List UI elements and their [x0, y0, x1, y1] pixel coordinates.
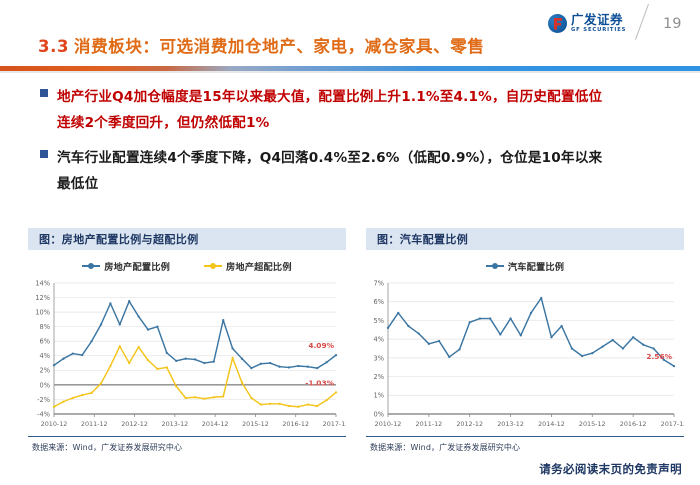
- bullet-line: 地产行业Q4加仓幅度是15年以来最大值，配置比例上升1.1%至4.1%，自历史配…: [57, 84, 670, 110]
- chart-source: 数据来源：Wind，广发证券发展研究中心: [32, 442, 182, 453]
- brand-name-en: GF SECURITIES: [571, 28, 626, 33]
- page-number: 19: [663, 16, 681, 32]
- chart-plot-area: 7%6%5%4%3%2%1%0%2010-122011-122012-12201…: [366, 277, 684, 432]
- svg-text:0%: 0%: [374, 410, 384, 418]
- legend-line-icon: [204, 265, 222, 267]
- svg-text:-1.03%: -1.03%: [305, 378, 334, 387]
- svg-text:2010-12: 2010-12: [41, 420, 68, 428]
- brand-logo-text: 广发证券 GF SECURITIES: [571, 14, 626, 33]
- chart-legend: 汽车配置比例: [366, 259, 684, 273]
- svg-text:2013-12: 2013-12: [162, 420, 189, 428]
- legend-label: 房地产配置比例: [104, 259, 170, 273]
- page-title: 3.3消费板块：可选消费加仓地产、家电，减仓家具、零售: [38, 33, 484, 57]
- header-divider-slash: [635, 4, 649, 40]
- legend-label: 房地产超配比例: [226, 259, 292, 273]
- legend-item-overweight: 房地产超配比例: [204, 259, 292, 273]
- bullet-list: 地产行业Q4加仓幅度是15年以来最大值，配置比例上升1.1%至4.1%，自历史配…: [40, 84, 670, 206]
- svg-text:2017-12: 2017-12: [323, 420, 346, 428]
- chart-title: 图：房地产配置比例与超配比例: [39, 231, 199, 247]
- list-item: 汽车行业配置连续4个季度下降，Q4回落0.4%至2.6%（低配0.9%），仓位是…: [40, 145, 670, 197]
- svg-text:2011-12: 2011-12: [416, 420, 443, 428]
- svg-text:-4%: -4%: [37, 410, 50, 418]
- legend-label: 汽车配置比例: [508, 259, 564, 273]
- chart-panel-header: 图：房地产配置比例与超配比例: [28, 228, 346, 250]
- svg-text:4%: 4%: [374, 336, 384, 344]
- legend-line-icon: [486, 265, 504, 267]
- section-number: 3.3: [38, 37, 69, 56]
- source-divider: [366, 436, 684, 437]
- svg-text:2016-12: 2016-12: [620, 420, 647, 428]
- bullet-text-block: 汽车行业配置连续4个季度下降，Q4回落0.4%至2.6%（低配0.9%），仓位是…: [57, 145, 670, 197]
- chart-panel-header: 图：汽车配置比例: [366, 228, 684, 250]
- svg-text:14%: 14%: [35, 279, 50, 287]
- chart-source: 数据来源：Wind，广发证券发展研究中心: [370, 442, 520, 453]
- line-chart-svg: 7%6%5%4%3%2%1%0%2010-122011-122012-12201…: [366, 277, 684, 432]
- svg-text:4.09%: 4.09%: [308, 341, 334, 350]
- svg-text:2017-12: 2017-12: [661, 420, 684, 428]
- svg-text:2%: 2%: [40, 367, 50, 375]
- svg-text:3%: 3%: [374, 354, 384, 362]
- chart-plot-area: 14%12%10%8%6%4%2%0%-2%-4%2010-122011-122…: [28, 277, 346, 432]
- svg-text:2015-12: 2015-12: [242, 420, 269, 428]
- section-title-text: 消费板块：可选消费加仓地产、家电，减仓家具、零售: [74, 37, 484, 56]
- svg-text:2016-12: 2016-12: [282, 420, 309, 428]
- svg-text:2010-12: 2010-12: [375, 420, 402, 428]
- svg-text:0%: 0%: [40, 381, 50, 389]
- svg-text:10%: 10%: [35, 309, 50, 317]
- svg-text:2013-12: 2013-12: [497, 420, 524, 428]
- svg-text:2012-12: 2012-12: [456, 420, 483, 428]
- svg-text:2014-12: 2014-12: [202, 420, 229, 428]
- bullet-line: 汽车行业配置连续4个季度下降，Q4回落0.4%至2.6%（低配0.9%），仓位是…: [57, 145, 670, 171]
- chart-panel-auto: 图：汽车配置比例 汽车配置比例 7%6%5%4%3%2%1%0%2010-122…: [366, 228, 684, 456]
- svg-text:2.56%: 2.56%: [646, 352, 672, 361]
- svg-text:4%: 4%: [40, 352, 50, 360]
- svg-text:2012-12: 2012-12: [121, 420, 148, 428]
- svg-text:12%: 12%: [35, 294, 50, 302]
- svg-text:6%: 6%: [374, 298, 384, 306]
- disclaimer-note: 请务必阅读末页的免责声明: [539, 461, 682, 477]
- svg-text:-2%: -2%: [37, 396, 50, 404]
- legend-item-allocation: 房地产配置比例: [82, 259, 170, 273]
- chart-title: 图：汽车配置比例: [377, 231, 468, 247]
- svg-text:2014-12: 2014-12: [538, 420, 565, 428]
- svg-text:2%: 2%: [374, 373, 384, 381]
- brand-logo: 广发证券 GF SECURITIES: [548, 14, 626, 33]
- bullet-line: 连续2个季度回升，但仍然低配1%: [57, 110, 670, 136]
- svg-text:8%: 8%: [40, 323, 50, 331]
- svg-text:2011-12: 2011-12: [81, 420, 108, 428]
- chart-legend: 房地产配置比例 房地产超配比例: [28, 259, 346, 273]
- legend-item-auto-allocation: 汽车配置比例: [486, 259, 564, 273]
- source-divider: [28, 436, 346, 437]
- square-bullet-icon: [40, 89, 48, 97]
- line-chart-svg: 14%12%10%8%6%4%2%0%-2%-4%2010-122011-122…: [28, 277, 346, 432]
- svg-text:6%: 6%: [40, 338, 50, 346]
- brand-name-cn: 广发证券: [571, 14, 626, 27]
- bullet-line: 最低位: [57, 171, 670, 197]
- svg-text:5%: 5%: [374, 317, 384, 325]
- square-bullet-icon: [40, 150, 48, 158]
- gf-logo-icon: [548, 14, 567, 33]
- chart-panel-real-estate: 图：房地产配置比例与超配比例 房地产配置比例 房地产超配比例 14%12%10%…: [28, 228, 346, 456]
- list-item: 地产行业Q4加仓幅度是15年以来最大值，配置比例上升1.1%至4.1%，自历史配…: [40, 84, 670, 136]
- legend-line-icon: [82, 265, 100, 267]
- title-accent-rule-shadow: [0, 71, 700, 73]
- svg-text:2015-12: 2015-12: [579, 420, 606, 428]
- slide-root: 广发证券 GF SECURITIES 19 3.3消费板块：可选消费加仓地产、家…: [0, 0, 700, 485]
- svg-text:1%: 1%: [374, 392, 384, 400]
- bullet-text-block: 地产行业Q4加仓幅度是15年以来最大值，配置比例上升1.1%至4.1%，自历史配…: [57, 84, 670, 136]
- svg-text:7%: 7%: [374, 279, 384, 287]
